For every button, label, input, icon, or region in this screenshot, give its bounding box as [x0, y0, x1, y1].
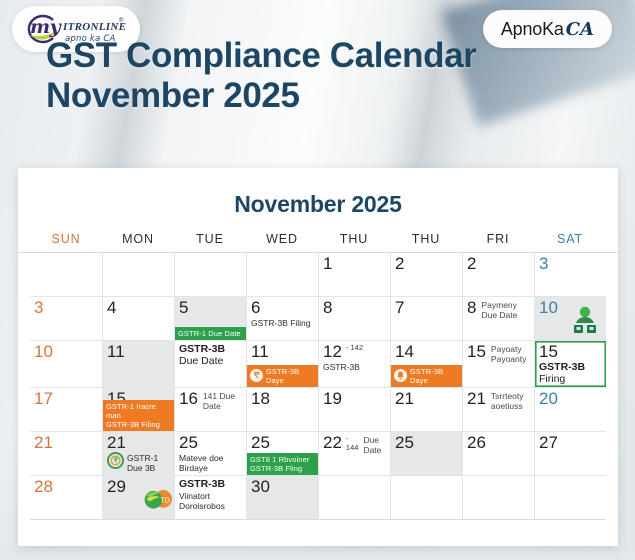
day-side-note: Paymeny Due Date: [481, 301, 525, 321]
calendar-day-cell-14-2-5[interactable]: 14GSTR-3B Daye: [390, 341, 462, 387]
day-event-badge-label: GSTR-3B Daye: [410, 367, 459, 385]
rupee-circle-icon: [250, 369, 263, 382]
day-number: 25: [395, 434, 414, 452]
day-superscript-note: - 142: [346, 343, 363, 352]
day-event-subtitle: Firing: [539, 373, 603, 385]
day-number: 16: [179, 390, 198, 408]
weekday-header-thu-5: THU: [390, 232, 462, 246]
calendar-day-cell-21-3-5[interactable]: 21: [390, 388, 462, 431]
calendar-week-row: 2121GSTR-1Due 3B25Mateve doeBirdaye25GST…: [30, 432, 606, 476]
day-number: 15: [539, 343, 558, 361]
calendar-month-title: November 2025: [18, 168, 618, 218]
calendar-day-cell-6-1-3[interactable]: 6GSTR-3B Filing: [246, 297, 318, 340]
page-title-line-1: GST Compliance Calendar: [46, 36, 476, 76]
calendar-day-cell-25-4-2[interactable]: 25Mateve doeBirdaye: [174, 432, 246, 475]
calendar-day-cell-3-1-0[interactable]: 3: [30, 297, 102, 340]
calendar-day-cell-3-0-7[interactable]: 3: [534, 253, 606, 296]
calendar-empty-cell: [534, 476, 606, 519]
day-side-note: Tsrrteoty aoetiuss: [491, 392, 531, 412]
calendar-day-cell-21-4-1[interactable]: 21GSTR-1Due 3B: [102, 432, 174, 475]
day-event-title: GSTR-3BDue Date: [179, 343, 243, 367]
weekday-header-sun-0: SUN: [30, 232, 102, 246]
day-event-badge-label: GST8 1 RbvoinerGSTR-3B Fling: [250, 455, 309, 473]
day-number: 28: [34, 478, 53, 496]
day-event-badge[interactable]: GSTR-1 Iracre manGSTR-3B Filing: [103, 400, 174, 431]
day-number: 1: [323, 255, 332, 273]
calendar-day-cell-11-2-1[interactable]: 11: [102, 341, 174, 387]
calendar-day-cell-26-4-6[interactable]: 26: [462, 432, 534, 475]
day-event-badge-label: GSTR-3B Daye: [266, 367, 315, 385]
calendar-week-row: 1011GSTR-3BDue Date11GSTR-3B Daye12- 142…: [30, 341, 606, 388]
day-event-title: GSTR-3BFiring: [539, 361, 603, 385]
calendar-day-cell-21-3-6[interactable]: 21Tsrrteoty aoetiuss: [462, 388, 534, 431]
calendar-day-cell-12-2-4[interactable]: 12- 142GSTR-3B: [318, 341, 390, 387]
day-number: 2: [395, 255, 404, 273]
day-number: 26: [467, 434, 486, 452]
bell-circle-icon: [394, 369, 407, 382]
calendar-day-cell-16-3-2[interactable]: 16141 Due Date: [174, 388, 246, 431]
calendar-day-cell-10-1-7[interactable]: 10: [534, 297, 606, 340]
calendar-day-cell-15-3-1[interactable]: 15GSTR-1 Iracre manGSTR-3B Filing: [102, 388, 174, 431]
day-side-note: 141 Due Date: [203, 392, 243, 412]
people-network-icon: [570, 306, 600, 334]
logo-text-itronline: ITRONLINE: [63, 21, 126, 33]
day-number: 2: [467, 255, 476, 273]
calendar-day-cell-15-2-7[interactable]: 15GSTR-3BFiring: [534, 341, 606, 387]
calendar-day-cell-7-1-5[interactable]: 7: [390, 297, 462, 340]
calendar-day-cell-2-0-6[interactable]: 2: [462, 253, 534, 296]
leaf-logo-icon: TD: [142, 486, 172, 510]
day-number: 21: [34, 434, 53, 452]
day-number: 4: [107, 299, 116, 317]
weekday-header-wed-3: WED: [246, 232, 318, 246]
day-number: 20: [539, 390, 558, 408]
logo-registered-icon: ®: [119, 18, 123, 24]
calendar-empty-cell: [174, 253, 246, 296]
day-side-note: Payoaty Payoanty: [491, 345, 531, 365]
apnokaca-badge[interactable]: ApnoKa CA: [483, 10, 612, 48]
calendar-week-row: 2829TDGSTR-3BViinatortDoroisrobos30: [30, 476, 606, 520]
calendar-day-cell-15-2-6[interactable]: 15Payoaty Payoanty: [462, 341, 534, 387]
day-plain-note: GSTR-3B: [323, 362, 387, 372]
calendar-day-cell-8-1-6[interactable]: 8Paymeny Due Date: [462, 297, 534, 340]
calendar-empty-cell: [390, 476, 462, 519]
calendar-day-cell-21-4-0[interactable]: 21: [30, 432, 102, 475]
day-number: 19: [323, 390, 342, 408]
day-number: 5: [179, 299, 188, 317]
weekday-header-mon-1: MON: [102, 232, 174, 246]
day-number: 25: [251, 434, 270, 452]
logo-text-my: my: [30, 16, 60, 38]
calendar-day-cell-10-2-0[interactable]: 10: [30, 341, 102, 387]
day-plain-note: Mateve doeBirdaye: [179, 453, 243, 473]
calendar-grid: 1223345GSTR-1 Due Date6GSTR-3B Filing878…: [18, 253, 618, 520]
day-plain-note: GSTR-3B Filing: [251, 318, 315, 328]
calendar-day-cell-5-1-2[interactable]: 5GSTR-1 Due Date: [174, 297, 246, 340]
day-event-badge[interactable]: GSTR-3B Daye: [247, 365, 318, 387]
calendar-day-cell-17-3-0[interactable]: 17: [30, 388, 102, 431]
day-superscript-note: - 144: [346, 434, 359, 452]
day-number: 18: [251, 390, 270, 408]
day-side-note: Due Date: [363, 436, 387, 456]
calendar-day-cell-1-0-4[interactable]: 1: [318, 253, 390, 296]
weekday-header-tue-2: TUE: [174, 232, 246, 246]
weekday-header-thu-4: THU: [318, 232, 390, 246]
calendar-day-cell-18-3-3[interactable]: 18: [246, 388, 318, 431]
page-header: my ITRONLINE ® apno ka CA GST Compliance…: [0, 0, 635, 170]
calendar-empty-cell: GSTR-3BViinatortDoroisrobos: [174, 476, 246, 519]
calendar-day-cell-19-3-4[interactable]: 19: [318, 388, 390, 431]
day-number: 30: [251, 478, 270, 496]
day-icon-note-text: GSTR-1Due 3B: [127, 453, 158, 473]
calendar-day-cell-25-4-5[interactable]: 25: [390, 432, 462, 475]
apnokaca-label: ApnoKa: [501, 19, 564, 40]
calendar-day-cell-22-4-4[interactable]: 22- 144Due Date: [318, 432, 390, 475]
calendar-empty-cell: [30, 253, 102, 296]
calendar-day-cell-27-4-7[interactable]: 27: [534, 432, 606, 475]
calendar-day-cell-4-1-1[interactable]: 4: [102, 297, 174, 340]
day-number: 11: [107, 343, 125, 361]
page-title: GST Compliance Calendar November 2025: [46, 36, 476, 115]
weekday-header-sat-7: SAT: [534, 232, 606, 246]
day-event-title: GSTR-3B: [179, 478, 243, 490]
day-event-badge[interactable]: GST8 1 RbvoinerGSTR-3B Fling: [247, 453, 318, 475]
calendar-day-cell-28-5-0[interactable]: 28: [30, 476, 102, 519]
day-number: 6: [251, 299, 260, 317]
day-number: 12: [323, 343, 342, 361]
weekday-header-row: SUNMONTUEWEDTHUTHUFRISAT: [18, 218, 618, 253]
day-number: 10: [539, 299, 558, 317]
calendar-day-cell-11-2-3[interactable]: 11GSTR-3B Daye: [246, 341, 318, 387]
calendar-day-cell-29-5-1[interactable]: 29TD: [102, 476, 174, 519]
calendar-empty-cell: [318, 476, 390, 519]
day-number: 8: [323, 299, 332, 317]
page-title-line-2: November 2025: [46, 76, 476, 116]
day-number: 25: [179, 434, 198, 452]
calendar-day-cell-30-5-3[interactable]: 30: [246, 476, 318, 519]
calendar-week-row: 345GSTR-1 Due Date6GSTR-3B Filing878Paym…: [30, 297, 606, 341]
calendar-day-cell-25-4-3[interactable]: 25GST8 1 RbvoinerGSTR-3B Fling: [246, 432, 318, 475]
day-number: 7: [395, 299, 404, 317]
calendar-empty-cell: [246, 253, 318, 296]
day-event-badge-label: GSTR-1 Due Date: [178, 329, 241, 338]
calendar-card: November 2025 SUNMONTUEWEDTHUTHUFRISAT 1…: [18, 168, 618, 546]
day-number: 8: [467, 299, 476, 317]
day-number: 15: [467, 343, 486, 361]
day-number: 29: [107, 478, 126, 496]
day-number: 21: [467, 390, 486, 408]
apnokaca-mark: CA: [566, 19, 594, 40]
day-number: 21: [395, 390, 414, 408]
calendar-day-cell-8-1-4[interactable]: 8: [318, 297, 390, 340]
weekday-header-fri-6: FRI: [462, 232, 534, 246]
rupee-ring-icon: [107, 452, 124, 469]
day-number: 10: [34, 343, 53, 361]
svg-text:TD: TD: [161, 498, 170, 505]
day-number: 27: [539, 434, 558, 452]
day-number: 3: [34, 299, 43, 317]
day-event-badge[interactable]: GSTR-3B Daye: [391, 365, 462, 387]
day-number: 3: [539, 255, 548, 273]
day-number: 11: [251, 343, 269, 361]
calendar-empty-cell: [102, 253, 174, 296]
calendar-day-cell-2-0-5[interactable]: 2: [390, 253, 462, 296]
day-number: 22: [323, 434, 342, 452]
day-event-badge-label: GSTR-1 Iracre manGSTR-3B Filing: [106, 402, 171, 429]
calendar-week-row: 1715GSTR-1 Iracre manGSTR-3B Filing16141…: [30, 388, 606, 432]
calendar-empty-cell: GSTR-3BDue Date: [174, 341, 246, 387]
calendar-empty-cell: [462, 476, 534, 519]
day-event-subtitle: Due Date: [179, 355, 243, 367]
day-plain-note: ViinatortDoroisrobos: [179, 491, 243, 511]
day-icon-note: GSTR-1Due 3B: [107, 452, 171, 473]
calendar-day-cell-20-3-7[interactable]: 20: [534, 388, 606, 431]
calendar-week-row: 1223: [30, 253, 606, 297]
day-event-badge[interactable]: GSTR-1 Due Date: [175, 327, 246, 340]
day-number: 14: [395, 343, 414, 361]
day-number: 17: [34, 390, 53, 408]
day-number: 21: [107, 434, 126, 452]
